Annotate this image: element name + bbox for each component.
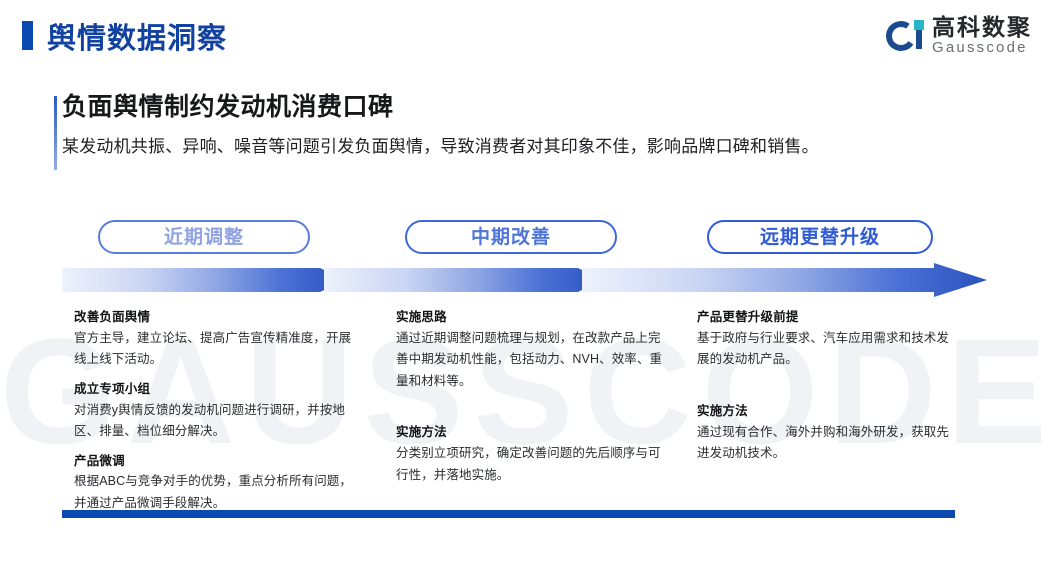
logo-stem-shape: [916, 30, 922, 49]
logo-square-accent: [914, 20, 924, 30]
content-block: 产品更替升级前提 基于政府与行业要求、汽车应用需求和技术发展的发动机产品。: [697, 308, 959, 371]
column-long-term: 产品更替升级前提 基于政府与行业要求、汽车应用需求和技术发展的发动机产品。 实施…: [697, 308, 959, 465]
headline: 负面舆情制约发动机消费口碑: [62, 92, 982, 123]
content-columns: 改善负面舆情 官方主导，建立论坛、提高广告宣传精准度，开展线上线下活动。 成立专…: [0, 308, 1050, 498]
page-header: 舆情数据洞察 高科数聚 Gausscode: [0, 0, 1050, 70]
logo-name-en: Gausscode: [932, 40, 1032, 57]
timeline-stage-long-term[interactable]: 远期更替升级: [707, 220, 933, 254]
block-spacer: [396, 401, 666, 423]
column-mid-term: 实施思路 通过近期调整问题梳理与规划，在改款产品上完善中期发动机性能，包括动力、…: [396, 308, 666, 486]
block-body: 基于政府与行业要求、汽车应用需求和技术发展的发动机产品。: [697, 328, 959, 371]
content-block: 产品微调 根据ABC与竞争对手的优势，重点分析所有问题，并通过产品微调手段解决。: [74, 452, 359, 515]
content-block: 实施方法 通过现有合作、海外并购和海外研发，获取先进发动机技术。: [697, 402, 959, 465]
logo-text-group: 高科数聚 Gausscode: [932, 15, 1032, 57]
block-spacer: [697, 380, 959, 402]
block-body: 根据ABC与竞争对手的优势，重点分析所有问题，并通过产品微调手段解决。: [74, 471, 359, 514]
block-body: 分类别立项研究，确定改善问题的先后顺序与可行性，并落地实施。: [396, 443, 666, 486]
logo-name-cn: 高科数聚: [932, 15, 1032, 39]
block-body: 通过现有合作、海外并购和海外研发，获取先进发动机技术。: [697, 422, 959, 465]
content-block: 改善负面舆情 官方主导，建立论坛、提高广告宣传精准度，开展线上线下活动。: [74, 308, 359, 371]
block-heading: 实施方法: [396, 423, 666, 442]
block-heading: 产品更替升级前提: [697, 308, 959, 327]
content-block: 成立专项小组 对消费y舆情反馈的发动机问题进行调研，并按地区、排量、档位细分解决…: [74, 380, 359, 443]
logo-glyph-icon: [886, 17, 924, 55]
page-title: 舆情数据洞察: [47, 15, 227, 57]
title-accent-bar: [54, 96, 57, 170]
block-body: 通过近期调整问题梳理与规划，在改款产品上完善中期发动机性能，包括动力、NVH、效…: [396, 328, 666, 393]
block-heading: 改善负面舆情: [74, 308, 359, 327]
column-near-term: 改善负面舆情 官方主导，建立论坛、提高广告宣传精准度，开展线上线下活动。 成立专…: [74, 308, 359, 514]
timeline-stage-mid-term[interactable]: 中期改善: [405, 220, 617, 254]
title-block: 负面舆情制约发动机消费口碑 某发动机共振、异响、噪音等问题引发负面舆情，导致消费…: [62, 92, 982, 159]
brand-logo: 高科数聚 Gausscode: [886, 12, 1032, 60]
content-block: 实施方法 分类别立项研究，确定改善问题的先后顺序与可行性，并落地实施。: [396, 423, 666, 486]
header-accent-bar: [22, 21, 33, 50]
block-heading: 产品微调: [74, 452, 359, 471]
block-body: 官方主导，建立论坛、提高广告宣传精准度，开展线上线下活动。: [74, 328, 359, 371]
block-body: 对消费y舆情反馈的发动机问题进行调研，并按地区、排量、档位细分解决。: [74, 400, 359, 443]
block-heading: 成立专项小组: [74, 380, 359, 399]
content-block: 实施思路 通过近期调整问题梳理与规划，在改款产品上完善中期发动机性能，包括动力、…: [396, 308, 666, 392]
subheadline: 某发动机共振、异响、噪音等问题引发负面舆情，导致消费者对其印象不佳，影响品牌口碑…: [62, 135, 982, 159]
footer-bar: [62, 510, 955, 518]
timeline-stage-near-term[interactable]: 近期调整: [98, 220, 310, 254]
timeline-arrow: [62, 263, 987, 297]
timeline-stage-list: 近期调整 中期改善 远期更替升级: [0, 220, 1050, 260]
block-heading: 实施思路: [396, 308, 666, 327]
block-heading: 实施方法: [697, 402, 959, 421]
